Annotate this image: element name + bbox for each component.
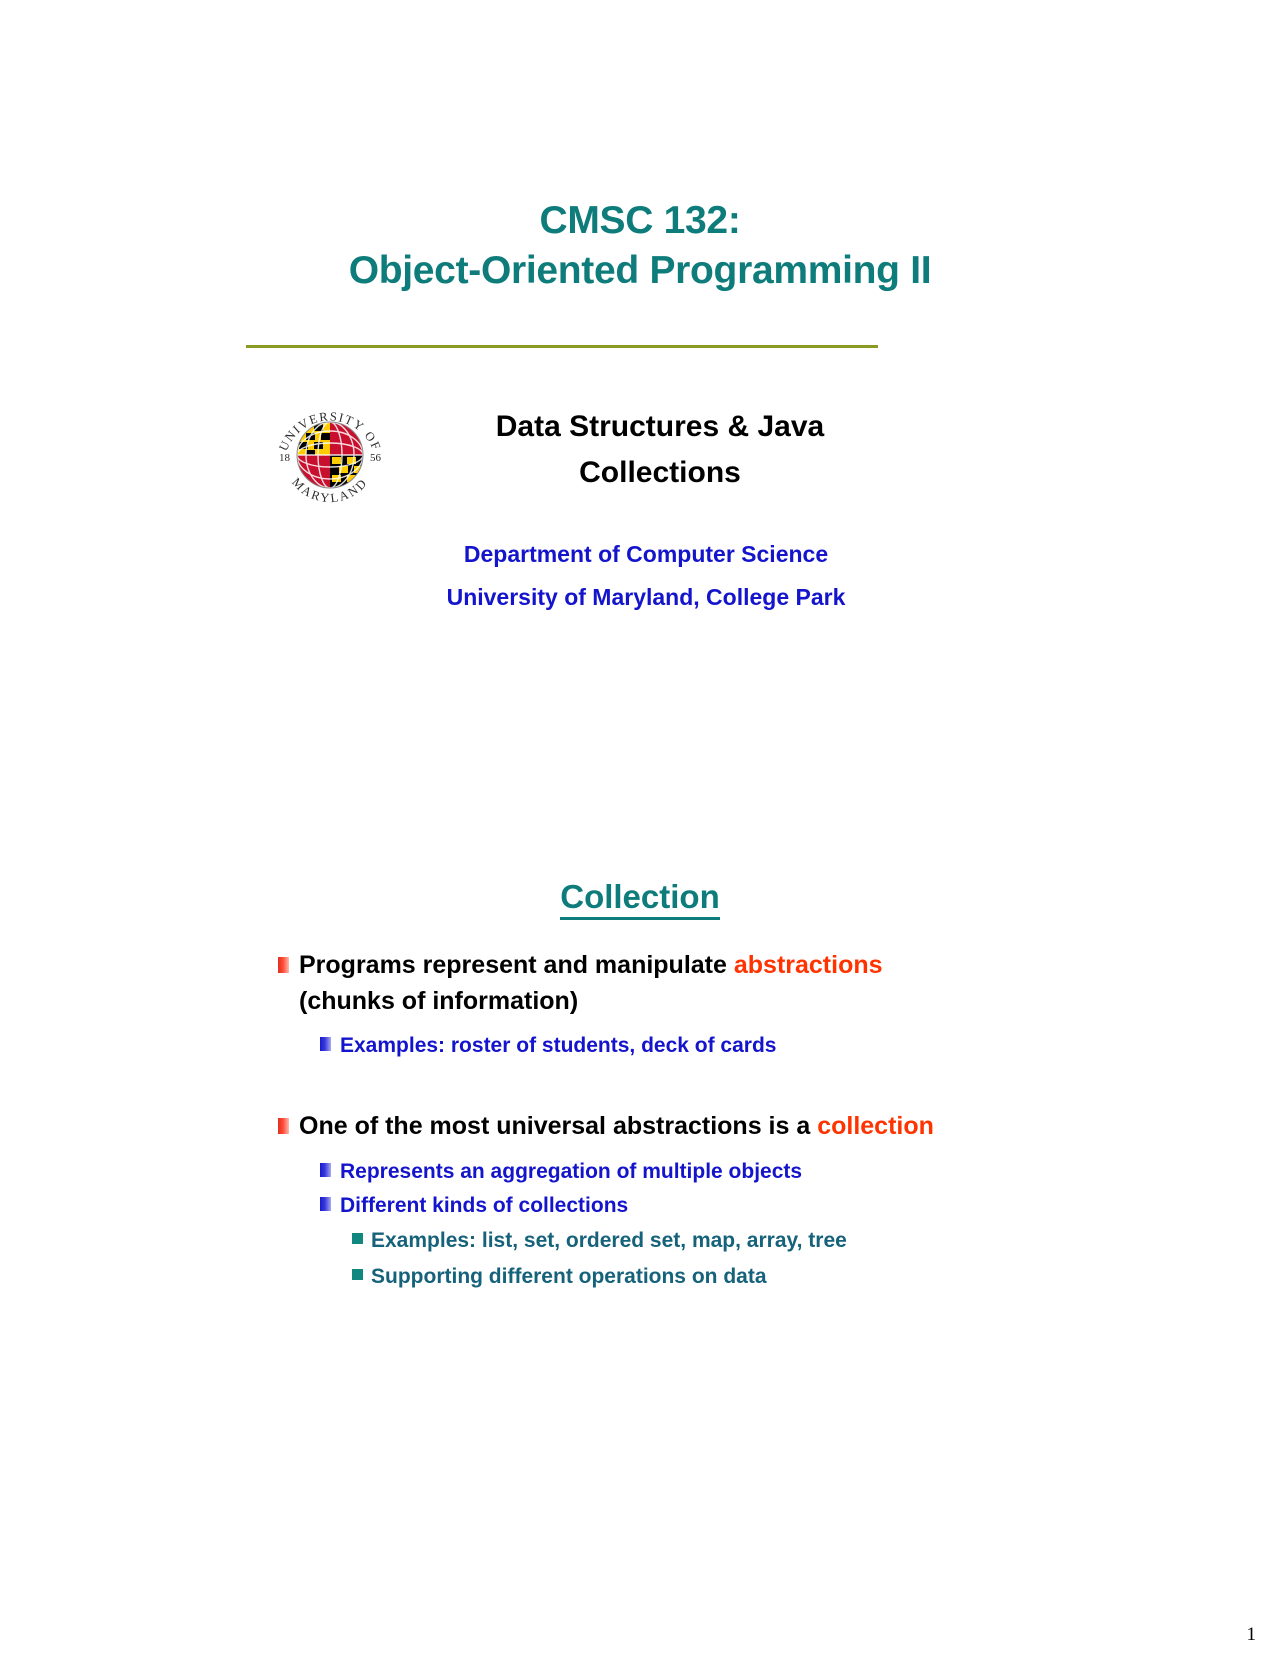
bullet-marker-level1-icon xyxy=(278,1118,289,1134)
bullet-text: Represents an aggregation of multiple ob… xyxy=(340,1155,802,1189)
bullet-marker-level2-icon xyxy=(320,1163,331,1177)
subject-title-line-1: Data Structures & Java xyxy=(404,404,916,450)
affiliation-department: Department of Computer Science xyxy=(366,533,926,576)
svg-text:18: 18 xyxy=(279,452,291,464)
bullet-marker-level1-icon xyxy=(278,957,289,973)
bullet-text: Programs represent and manipulate abstra… xyxy=(299,948,978,1019)
bullet-item-level1: One of the most universal abstractions i… xyxy=(278,1109,978,1145)
slide-heading: Collection xyxy=(180,878,1100,916)
bullet-item-level1: Programs represent and manipulate abstra… xyxy=(278,948,978,1019)
slide-collection: Collection Programs represent and manipu… xyxy=(0,828,1280,1656)
umd-seal-logo: UNIVERSITY OF MARYLAND 18 56 xyxy=(269,393,391,515)
affiliation-university: University of Maryland, College Park xyxy=(366,576,926,619)
spacer xyxy=(278,1019,978,1029)
bullet-marker-level3-icon xyxy=(352,1233,363,1244)
bullet-marker-level2-icon xyxy=(320,1197,331,1211)
bullet-text: Different kinds of collections xyxy=(340,1189,628,1223)
bullet-marker-level2-icon xyxy=(320,1037,331,1051)
bullet-item-level2: Represents an aggregation of multiple ob… xyxy=(320,1155,978,1189)
bullet-text: Supporting different operations on data xyxy=(371,1259,767,1295)
slide-heading-text: Collection xyxy=(560,878,720,920)
deck-title-line-2: Object-Oriented Programming II xyxy=(180,246,1100,296)
bullet-text-pre: One of the most universal abstractions i… xyxy=(299,1112,817,1140)
bullet-text: Examples: list, set, ordered set, map, a… xyxy=(371,1223,847,1259)
bullet-item-level3: Supporting different operations on data xyxy=(352,1259,978,1295)
deck-title-line-1: CMSC 132: xyxy=(180,196,1100,246)
bullet-text: Examples: roster of students, deck of ca… xyxy=(340,1029,776,1063)
bullet-item-level3: Examples: list, set, ordered set, map, a… xyxy=(352,1223,978,1259)
svg-text:56: 56 xyxy=(370,452,382,464)
spacer xyxy=(278,1145,978,1155)
bullet-text-pre: Programs represent and manipulate xyxy=(299,951,734,979)
bullet-list: Programs represent and manipulate abstra… xyxy=(278,948,978,1295)
bullet-text-highlight: abstractions xyxy=(734,951,883,979)
bullet-text: One of the most universal abstractions i… xyxy=(299,1109,934,1145)
bullet-item-level2: Different kinds of collections xyxy=(320,1189,978,1223)
bullet-text-highlight: collection xyxy=(817,1112,934,1140)
title-divider-rule xyxy=(246,345,878,348)
subject-title: Data Structures & Java Collections xyxy=(404,404,916,495)
slide-title: CMSC 132: Object-Oriented Programming II… xyxy=(0,0,1280,828)
bullet-text-post: (chunks of information) xyxy=(299,987,578,1015)
bullet-marker-level3-icon xyxy=(352,1269,363,1280)
spacer xyxy=(278,1063,978,1109)
deck-title: CMSC 132: Object-Oriented Programming II xyxy=(180,196,1100,296)
page-number: 1 xyxy=(1247,1624,1257,1646)
affiliation: Department of Computer Science Universit… xyxy=(366,533,926,618)
bullet-item-level2: Examples: roster of students, deck of ca… xyxy=(320,1029,978,1063)
subject-title-line-2: Collections xyxy=(404,450,916,496)
